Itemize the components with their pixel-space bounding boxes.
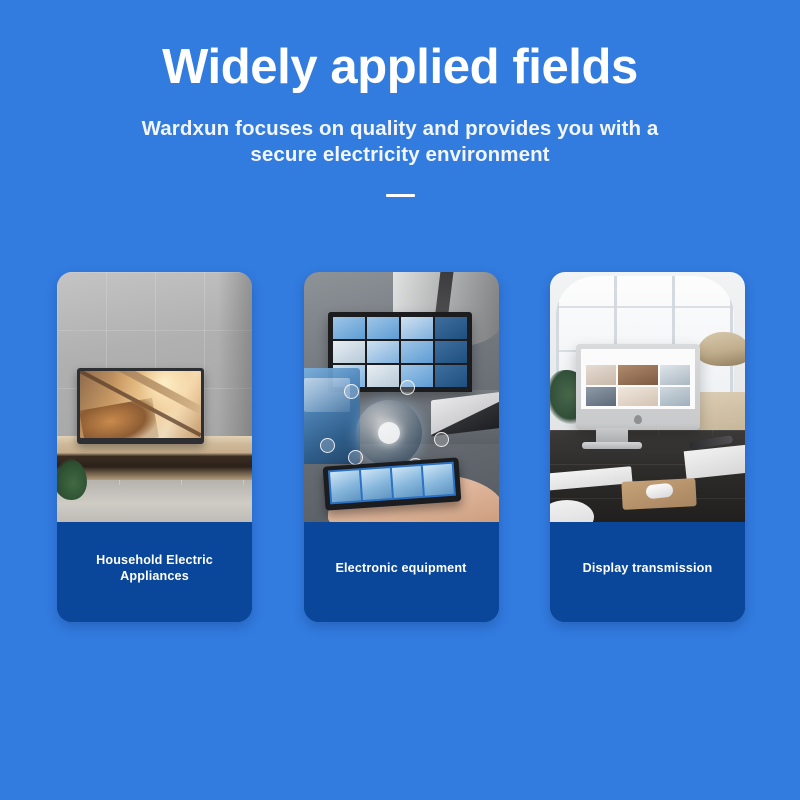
card-footer-household: Household Electric Appliances — [57, 522, 252, 622]
card-label: Household Electric Appliances — [71, 552, 239, 584]
application-card-display-transmission[interactable]: Display transmission — [550, 272, 745, 622]
card-image-household — [57, 272, 252, 522]
card-image-display — [550, 272, 745, 522]
promo-banner: Widely applied fields Wardxun focuses on… — [0, 0, 800, 800]
network-node-icon — [344, 384, 359, 399]
card-label: Electronic equipment — [317, 560, 485, 576]
banner-header: Widely applied fields Wardxun focuses on… — [0, 0, 800, 197]
tablet-icon — [304, 272, 499, 522]
page-subtitle: Wardxun focuses on quality and provides … — [140, 96, 660, 168]
tablet-photo-grid — [327, 462, 455, 505]
application-card-list: Household Electric Appliances — [57, 272, 745, 622]
application-card-electronic-equipment[interactable]: Electronic equipment — [304, 272, 499, 622]
television-set — [77, 368, 204, 444]
apple-logo-icon — [634, 415, 642, 424]
card-label: Display transmission — [564, 560, 732, 576]
monitor-chin — [576, 409, 700, 430]
network-node-icon — [400, 380, 415, 395]
globe-network-icon — [356, 400, 422, 466]
screen-gallery — [586, 365, 690, 406]
monitor-base — [582, 442, 642, 449]
application-card-household-electric-appliances[interactable]: Household Electric Appliances — [57, 272, 252, 622]
network-node-icon — [320, 438, 335, 453]
computer-screen — [581, 349, 695, 409]
network-node-icon — [348, 450, 363, 465]
network-node-icon — [434, 432, 449, 447]
title-divider — [386, 194, 415, 197]
tablet-device — [322, 457, 461, 510]
desktop-computer — [576, 344, 700, 430]
card-footer-electronic: Electronic equipment — [304, 522, 499, 622]
tv-screen — [80, 371, 201, 438]
television-icon — [57, 272, 252, 522]
card-image-electronic — [304, 272, 499, 522]
page-title: Widely applied fields — [0, 0, 800, 96]
monitor-icon — [550, 272, 745, 522]
pendant-lamp — [697, 332, 745, 366]
card-footer-display: Display transmission — [550, 522, 745, 622]
